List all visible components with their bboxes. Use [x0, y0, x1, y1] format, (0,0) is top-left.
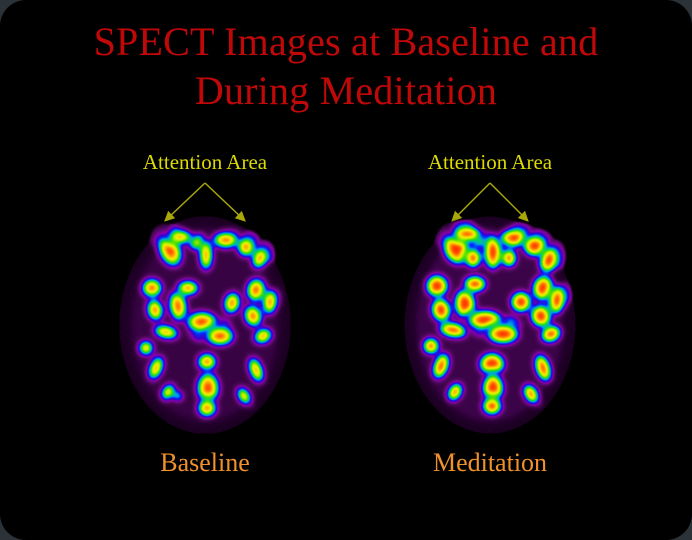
page-title: SPECT Images at Baseline and During Medi…	[0, 18, 692, 116]
panel-meditation: Attention Area	[345, 150, 635, 500]
panel-baseline: Attention Area	[60, 150, 350, 500]
condition-label-baseline: Baseline	[60, 448, 350, 478]
attention-area-label-baseline: Attention Area	[60, 150, 350, 175]
attention-area-label-meditation: Attention Area	[345, 150, 635, 175]
spect-scan-baseline	[60, 210, 350, 440]
spect-scan-meditation	[345, 210, 635, 440]
spect-brain-scan-icon	[60, 210, 350, 440]
slide-canvas: SPECT Images at Baseline and During Medi…	[0, 0, 692, 540]
spect-brain-scan-icon	[345, 210, 635, 440]
condition-label-meditation: Meditation	[345, 448, 635, 478]
